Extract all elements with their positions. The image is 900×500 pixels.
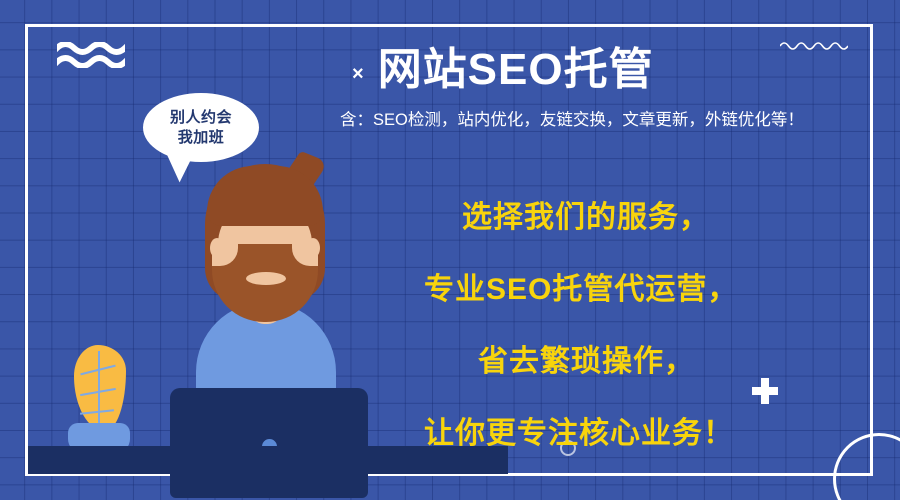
speech-bubble-line-1: 别人约会	[170, 108, 232, 128]
speech-bubble-line-2: 我加班	[178, 128, 225, 148]
mouth	[246, 272, 286, 285]
bearded-man-illustration	[150, 160, 420, 460]
speech-bubble: 别人约会 我加班	[143, 93, 259, 162]
close-icon: ×	[352, 64, 364, 84]
potted-plant-illustration	[60, 345, 140, 455]
slogan-line: 选择我们的服务，	[410, 192, 840, 236]
plant-leaf	[74, 345, 126, 431]
circle-outline-icon	[833, 433, 900, 500]
desk-illustration	[28, 450, 508, 474]
headline-block: × 网站SEO托管 含：SEO检测，站内优化，友链交换，文章更新，外链优化等！	[330, 46, 890, 130]
hair-front	[207, 166, 323, 226]
seo-hosting-banner: × 网站SEO托管 含：SEO检测，站内优化，友链交换，文章更新，外链优化等！ …	[0, 0, 900, 500]
page-title: 网站SEO托管	[378, 46, 654, 94]
slogan-block: 选择我们的服务， 专业SEO托管代运营， 省去繁琐操作， 让你更专注核心业务！	[410, 192, 840, 452]
slogan-line: 专业SEO托管代运营，	[410, 264, 840, 308]
title-row: × 网站SEO托管	[330, 46, 890, 94]
wave-icon	[57, 42, 125, 68]
slogan-line: 省去繁琐操作，	[410, 336, 840, 380]
page-subtitle: 含：SEO检测，站内优化，友链交换，文章更新，外链优化等！	[330, 106, 890, 130]
